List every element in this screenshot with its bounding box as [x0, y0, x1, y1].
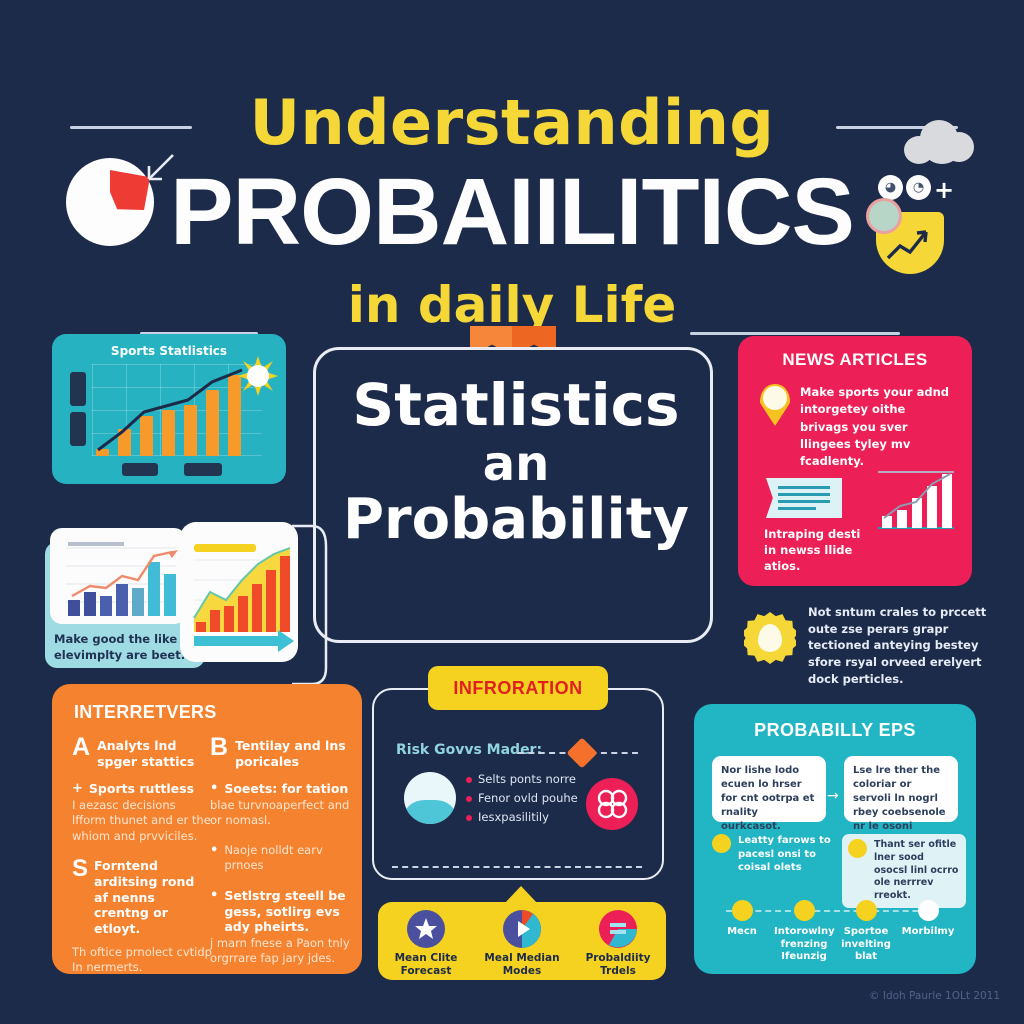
- item-lead: Naoje nolldt earv prnoes: [224, 843, 350, 874]
- bullet-marker: S: [72, 858, 88, 881]
- news-articles-card[interactable]: NEWS ARTICLES Make sports your adnd into…: [738, 336, 972, 586]
- center-headline-card: Statlistics an Probability: [313, 347, 713, 643]
- coin-icon-1: ◕: [878, 175, 903, 200]
- timeline: Mecn Intorowlny frenzing Ifeunzig Sporto…: [712, 900, 960, 964]
- shield-badge-icon: [866, 198, 902, 234]
- interpreters-title: INTERRETVERS: [74, 702, 217, 723]
- pie-chart-icon: [66, 158, 154, 246]
- icon-bar-item-probability-models[interactable]: Probaldiity Trdels: [570, 902, 666, 980]
- column-a-letter: A: [72, 736, 90, 760]
- center-line-2: an: [316, 440, 716, 488]
- timeline-dot: [918, 900, 939, 921]
- bullet-marker: •: [210, 843, 218, 859]
- interpreters-column-b: B Tentilay and lns poricales • Soeets: f…: [210, 736, 350, 981]
- sun-burst-icon: [238, 356, 278, 396]
- icon-bar-item-mean-forecast[interactable]: Mean Clite Forecast: [378, 902, 474, 980]
- list-item: Iesxpasilitily: [466, 810, 606, 825]
- icon-bar-label: Probaldiity Trdels: [570, 952, 666, 978]
- list-item: Fenor ovld pouhe: [466, 791, 606, 806]
- bullet-text: Fenor ovld pouhe: [478, 791, 578, 806]
- mini-chart-card-a[interactable]: [50, 528, 186, 624]
- center-line-3: Probability: [316, 492, 716, 548]
- news-card-caption: Intraping desti in newss llide atios.: [764, 526, 868, 574]
- center-line-1: Statlistics: [316, 376, 716, 434]
- note-text: Thant ser ofitle lner sood osocsl linl o…: [874, 839, 960, 903]
- icon-bar-item-median-modes[interactable]: Meal Median Modes: [474, 902, 570, 980]
- bullet-dot: [466, 796, 472, 802]
- bullet-marker: •: [210, 888, 218, 904]
- risk-bullet-list: Selts ponts norre Fenor ovld pouhe Iesxp…: [466, 772, 606, 829]
- timeline-label: Intorowlny frenzing Ifeunzig: [774, 926, 834, 964]
- pink-molecule-icon: [586, 778, 638, 830]
- plus-icon: +: [934, 176, 954, 204]
- item-lead: Soeets: for tation: [224, 781, 348, 797]
- location-pin-dial: [763, 386, 787, 410]
- bullet-marker: +: [72, 781, 83, 797]
- news-card-title: NEWS ARTICLES: [738, 350, 972, 370]
- globe-icon: [404, 772, 456, 824]
- step-box-1: Nor lishe lodo ecuen lo hrser for cnt oo…: [712, 756, 826, 822]
- trend-line: [92, 364, 262, 456]
- chart-circle-icon: [599, 910, 637, 948]
- column-b-heading: Tentilay and lns poricales: [235, 736, 350, 769]
- timeline-dot: [732, 900, 753, 921]
- yellow-dot-icon: [848, 839, 867, 858]
- probability-steps-panel[interactable]: PROBABILLY EPS Nor lishe lodo ecuen lo h…: [694, 704, 976, 974]
- sports-chart: [92, 364, 262, 456]
- y-axis-label-1: [70, 372, 86, 406]
- information-pill[interactable]: INFRORATION: [428, 666, 608, 710]
- footer-credit: © Idoh Paurle 1OLt 2011: [0, 990, 1000, 1002]
- column-a-heading: Analyts lnd spger stattics: [97, 736, 212, 769]
- arrow-right-icon: →: [827, 788, 839, 804]
- star-circle-icon: [407, 910, 445, 948]
- column-a-header: A Analyts lnd spger stattics: [72, 736, 212, 769]
- interpreters-column-a: A Analyts lnd spger stattics + Sports ru…: [72, 736, 212, 990]
- yellow-dot-icon: [712, 834, 731, 853]
- timeline-label: Mecn: [712, 926, 772, 939]
- icon-bar: Mean Clite Forecast Meal Median Modes: [378, 902, 666, 980]
- list-item: • Soeets: for tation blae turvnoaperfect…: [210, 781, 350, 829]
- timeline-node-4[interactable]: Morbilmy: [898, 900, 958, 939]
- timeline-label: Morbilmy: [898, 926, 958, 939]
- pie-circle-icon: [503, 910, 541, 948]
- y-axis-label-2: [70, 412, 86, 446]
- risk-subtitle: Risk Govvs Mader:: [396, 742, 542, 758]
- dashed-line-bottom: [392, 866, 642, 868]
- cloud-icon: [904, 118, 976, 164]
- timeline-node-1[interactable]: Mecn: [712, 900, 772, 939]
- timeline-dot: [794, 900, 815, 921]
- timeline-node-2[interactable]: Intorowlny frenzing Ifeunzig: [774, 900, 834, 964]
- timeline-label: Sportoe invelting blat: [836, 926, 896, 964]
- step-box-2: Lse lre ther the coloriar or servoli ln …: [844, 756, 958, 822]
- list-item: Selts ponts norre: [466, 772, 606, 787]
- column-b-header: B Tentilay and lns poricales: [210, 736, 350, 769]
- news-bar-chart-icon: [876, 468, 956, 530]
- coin-icon-2: ◔: [906, 175, 931, 200]
- infographic-poster: Understanding PROBAIILITICS in daily Lif…: [0, 0, 1024, 1024]
- gear-note-text: Not sntum crales to prccett oute zse per…: [808, 604, 988, 687]
- list-item: • Setlstrg steell be gess, sotlirg evs a…: [210, 888, 350, 967]
- item-sub: j marn fnese a Paon tnly orgrrare fap ja…: [210, 936, 350, 967]
- title-line-1: Understanding: [0, 86, 1024, 159]
- mini-chart-card-b[interactable]: [180, 522, 298, 662]
- sports-statistics-card[interactable]: Sports Statlistics: [52, 334, 286, 484]
- bullet-dot: [466, 777, 472, 783]
- gear-note: Not sntum crales to prccett oute zse per…: [738, 600, 988, 700]
- bullet-text: Iesxpasilitily: [478, 810, 549, 825]
- column-b-letter: B: [210, 736, 228, 760]
- note-item-1: Leatty farows to pacesl onsi to coisal o…: [712, 834, 832, 875]
- icon-bar-label: Meal Median Modes: [474, 952, 570, 978]
- information-pill-label: INFRORATION: [453, 678, 582, 699]
- bullet-dot: [466, 815, 472, 821]
- timeline-node-3[interactable]: Sportoe invelting blat: [836, 900, 896, 964]
- bullet-text: Selts ponts norre: [478, 772, 576, 787]
- item-sub: Th oftice prnolect cvtidp In nermerts.: [72, 945, 212, 976]
- subtitle-rule-right: [690, 332, 900, 335]
- item-sub: I aezasc decisions lfform thunet and er …: [72, 798, 212, 845]
- probability-panel-title: PROBABILLY EPS: [694, 720, 976, 741]
- list-item: + Sports ruttless I aezasc decisions lff…: [72, 781, 212, 844]
- arrow-down-left-icon: [142, 152, 176, 186]
- item-lead: Setlstrg steell be gess, sotlirg evs ady…: [224, 888, 350, 935]
- timeline-dot: [856, 900, 877, 921]
- document-icon: [766, 478, 842, 518]
- list-item: S Forntend arditsing rond af nenns crent…: [72, 858, 212, 975]
- interpreters-panel[interactable]: INTERRETVERS A Analyts lnd spger stattic…: [52, 684, 362, 974]
- note-text: Leatty farows to pacesl onsi to coisal o…: [738, 834, 832, 875]
- connector-line: [290, 520, 330, 690]
- note-item-2: Thant ser ofitle lner sood osocsl linl o…: [842, 834, 966, 908]
- gear-inner: [758, 624, 782, 652]
- news-card-body: Make sports your adnd intorgetey oithe b…: [800, 384, 952, 470]
- bullet-marker: •: [210, 781, 218, 797]
- list-item: • Naoje nolldt earv prnoes: [210, 843, 350, 874]
- mini-charts-group: Make good the like elevimplty are beet.: [40, 516, 300, 676]
- item-lead: Sports ruttless: [89, 781, 194, 797]
- icon-bar-label: Mean Clite Forecast: [378, 952, 474, 978]
- item-sub: blae turvnoaperfect and or nomasl.: [210, 798, 350, 829]
- item-lead: Forntend arditsing rond af nenns crentng…: [94, 858, 212, 936]
